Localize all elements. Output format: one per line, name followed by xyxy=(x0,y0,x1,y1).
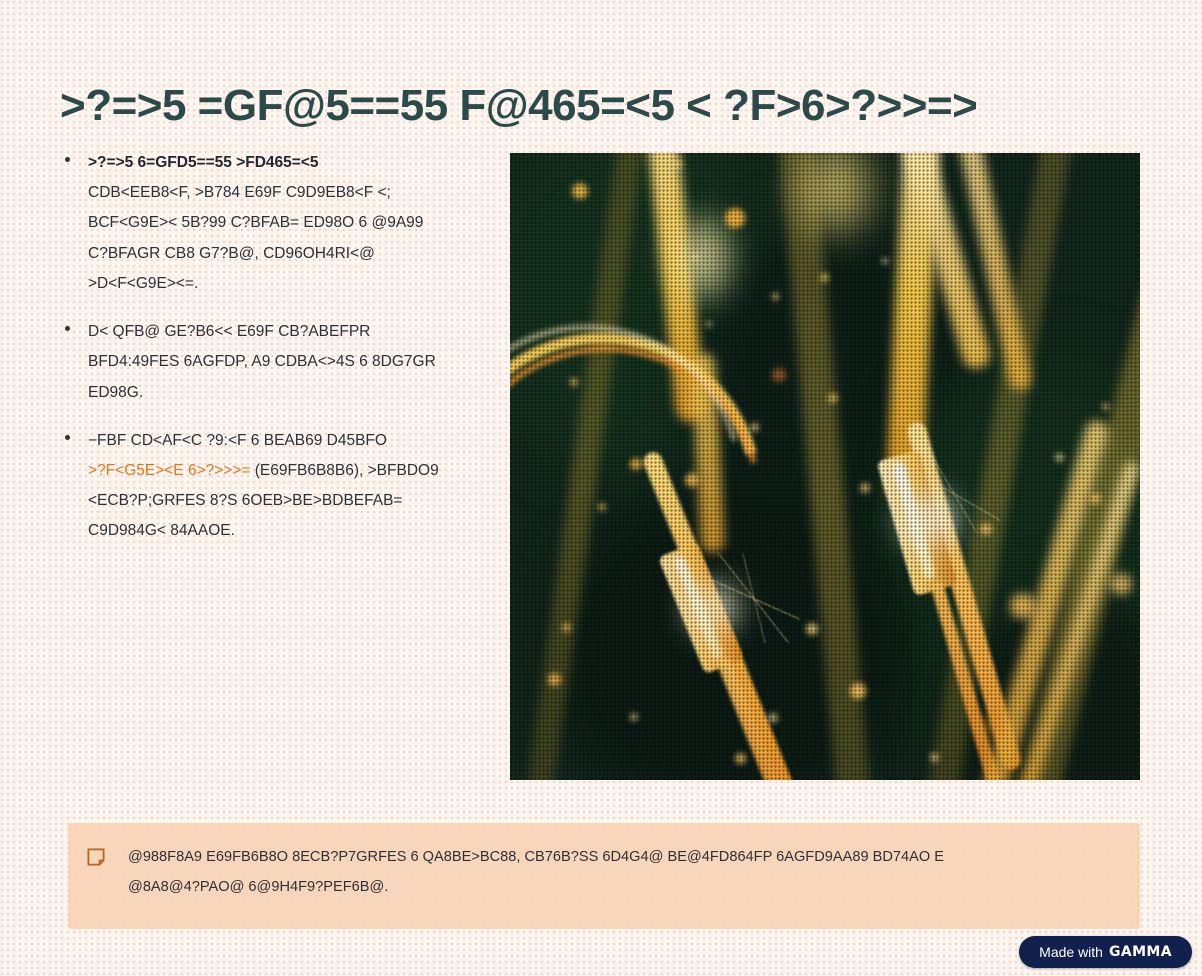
list-item: >?=>5 6=GFD5==55 >FD465=<5 CDB<EEB8<F, >… xyxy=(60,148,460,299)
list-item-highlight-line: >?F<G5E><E 6>?>>>= (E69FB6B8B6), >BFBDO9 xyxy=(88,456,460,486)
callout-line: @8A8@4?PAO@ 6@9H4F9?PEF6B@. xyxy=(128,873,1118,903)
page-title: >?=>5 =GF@5==55 F@465=<5 < ?F>6>?>>=> xyxy=(60,81,1140,130)
fiber-filaments xyxy=(910,453,1000,533)
list-item-line: ED98G. xyxy=(88,378,460,408)
badge-brand-label: GAMMA xyxy=(1109,944,1172,960)
list-item-line: CDB<EEB8<F, >B784 E69F C9D9EB8<F <; xyxy=(88,178,460,208)
list-item: −FBF CD<AF<C ?9:<F 6 BEAB69 D45BFO >?F<G… xyxy=(60,426,460,547)
list-item-line: C9D984G< 84AAOE. xyxy=(88,516,460,546)
list-item-line: −FBF CD<AF<C ?9:<F 6 BEAB69 D45BFO xyxy=(88,426,460,456)
bullet-dot-icon xyxy=(65,435,70,440)
list-item-line-tail: (E69FB6B8B6), >BFBDO9 xyxy=(250,462,438,479)
sticky-note-icon xyxy=(86,847,106,867)
list-item-line: C?BFAGR CB8 G7?B@, CD96OH4RI<@ xyxy=(88,239,460,269)
list-item: D< QFB@ GE?B6<< E69F CB?ABEFPR BFD4:49FE… xyxy=(60,317,460,408)
bullet-list: >?=>5 6=GFD5==55 >FD465=<5 CDB<EEB8<F, >… xyxy=(60,148,460,565)
photo-artwork xyxy=(510,153,1140,780)
list-item-line: BFD4:49FES 6AGFDP, A9 CDBA<>4S 6 8DG7GR xyxy=(88,347,460,377)
list-item-heading: >?=>5 6=GFD5==55 >FD465=<5 xyxy=(88,148,460,178)
list-item-line: <ECB?P;GRFES 8?S 6OEB>BE>BDBEFAB= xyxy=(88,486,460,516)
highlighted-term: >?F<G5E><E 6>?>>>= xyxy=(88,462,250,479)
callout-text: @988F8A9 E69FB6B8O 8ECB?P7GRFES 6 QA8BE>… xyxy=(128,843,1118,903)
list-item-line: BCF<G9E>< 5B?99 C?BFAB= ED98O 6 @9A99 xyxy=(88,208,460,238)
fiber-optic-cables-photo xyxy=(510,153,1140,780)
list-item-line: >D<F<G9E><=. xyxy=(88,269,460,299)
callout-box: @988F8A9 E69FB6B8O 8ECB?P7GRFES 6 QA8BE>… xyxy=(68,823,1140,929)
bullet-dot-icon xyxy=(65,326,70,331)
fiber-filaments xyxy=(710,553,800,643)
bullet-dot-icon xyxy=(65,157,70,162)
badge-prefix-label: Made with xyxy=(1039,944,1103,960)
slide-canvas: >?=>5 =GF@5==55 F@465=<5 < ?F>6>?>>=> >?… xyxy=(0,0,1202,976)
made-with-gamma-badge[interactable]: Made with GAMMA xyxy=(1019,936,1192,968)
list-item-line: D< QFB@ GE?B6<< E69F CB?ABEFPR xyxy=(88,317,460,347)
callout-line: @988F8A9 E69FB6B8O 8ECB?P7GRFES 6 QA8BE>… xyxy=(128,843,1118,873)
